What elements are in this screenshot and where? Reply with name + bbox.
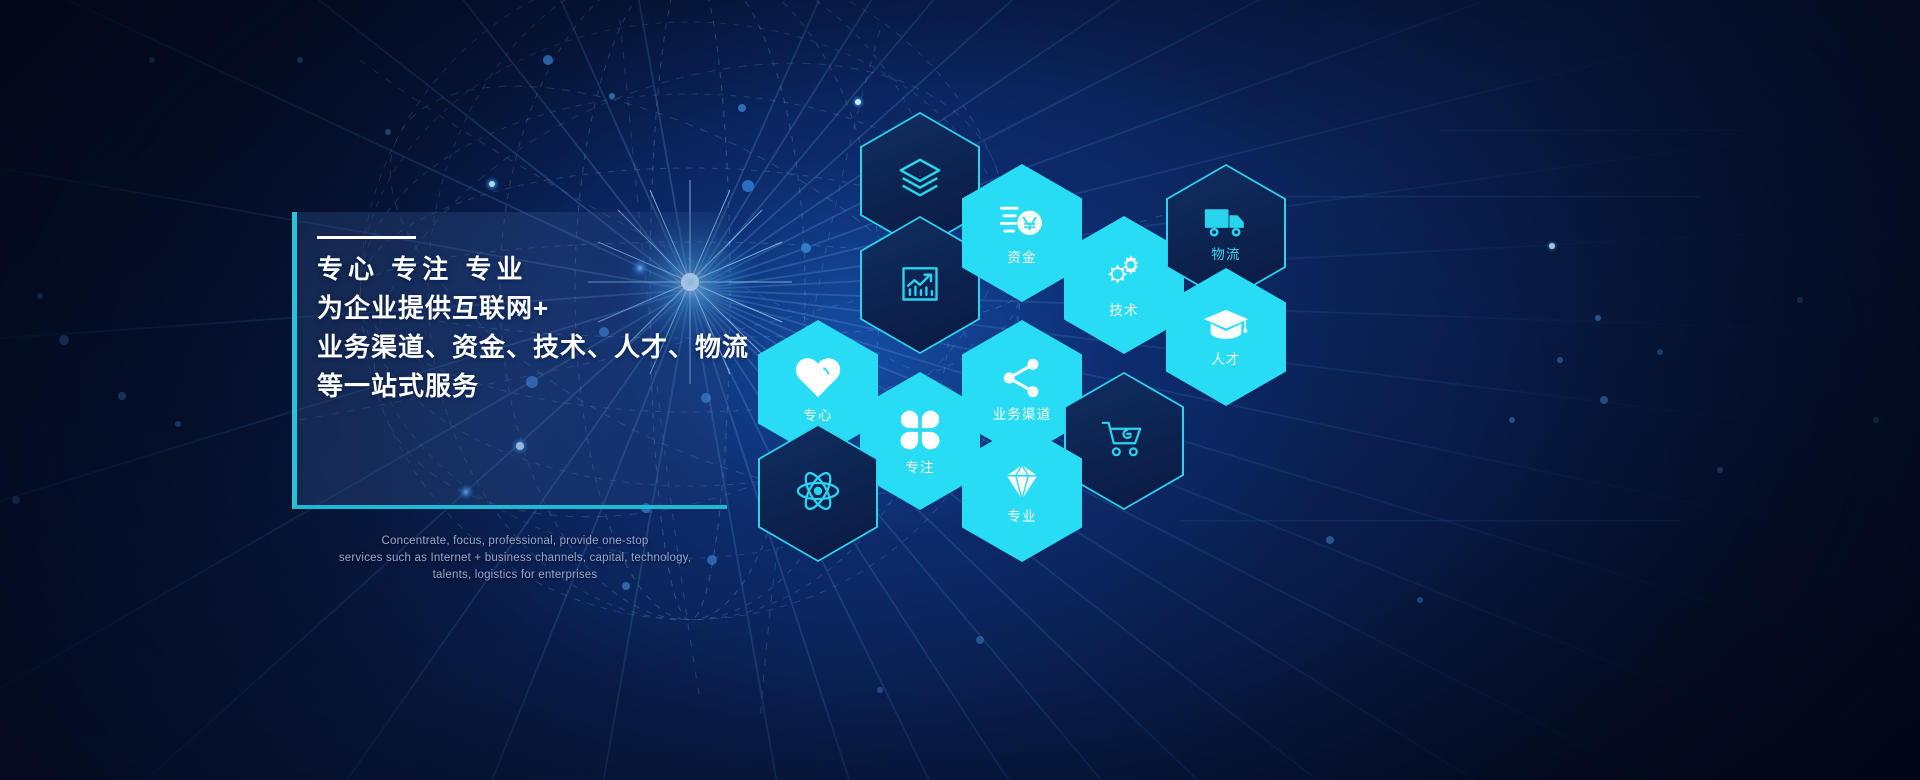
- chart-growth-icon: [898, 261, 942, 310]
- hex-content: 人才: [1203, 308, 1249, 367]
- hex-content: 物流: [1204, 205, 1248, 262]
- headline-line-1: 专心 专注 专业: [317, 250, 727, 289]
- hex-label: 业务渠道: [993, 408, 1052, 422]
- hex-content: 专心: [794, 356, 842, 423]
- hex-label: 专业: [1007, 510, 1036, 524]
- hex-content: 专注: [898, 408, 942, 475]
- hex-content: [1101, 419, 1147, 464]
- hex-tile-pro[interactable]: 专业: [962, 424, 1082, 562]
- hex-content: 技术: [1102, 253, 1146, 318]
- hexagon-cluster: 资金技术物流人才业务渠道专心专注专业: [740, 100, 1300, 520]
- hex-tile-atom[interactable]: [758, 424, 878, 562]
- hex-content: [795, 468, 841, 519]
- hero-banner: 专心 专注 专业 为企业提供互联网+ 业务渠道、资金、技术、人才、物流 等一站式…: [0, 0, 1920, 780]
- headline-line-2: 为企业提供互联网+: [317, 289, 727, 328]
- diamond-icon: [1005, 463, 1039, 506]
- hex-label: 资金: [1007, 251, 1036, 265]
- hex-content: 业务渠道: [993, 357, 1052, 422]
- share-nodes-icon: [1000, 357, 1044, 404]
- gears-icon: [1102, 253, 1146, 300]
- hex-label: 专注: [905, 461, 934, 475]
- hex-label: 物流: [1211, 248, 1240, 262]
- headline-line-3: 业务渠道、资金、技术、人才、物流: [317, 328, 727, 367]
- hex-tile-cart[interactable]: [1064, 372, 1184, 510]
- hex-content: 专业: [1005, 463, 1039, 524]
- truck-icon: [1204, 205, 1248, 244]
- decorative-rule: [317, 236, 416, 239]
- headline-lines: 专心 专注 专业 为企业提供互联网+ 业务渠道、资金、技术、人才、物流 等一站式…: [317, 250, 727, 406]
- layers-icon: [897, 156, 943, 207]
- hex-content: 资金: [1000, 202, 1044, 265]
- graduation-cap-icon: [1203, 308, 1249, 349]
- hex-label: 人才: [1211, 353, 1240, 367]
- subtitle-line-3: talents, logistics for enterprises: [330, 567, 700, 584]
- heart-icon: [794, 356, 842, 405]
- shopping-cart-icon: [1101, 419, 1147, 464]
- subtitle-line-2: services such as Internet + business cha…: [330, 550, 700, 567]
- hex-label: 技术: [1109, 304, 1138, 318]
- headline-line-4: 等一站式服务: [317, 367, 727, 406]
- subtitle-line-1: Concentrate, focus, professional, provid…: [330, 533, 700, 550]
- headline-panel: 专心 专注 专业 为企业提供互联网+ 业务渠道、资金、技术、人才、物流 等一站式…: [292, 212, 727, 509]
- atom-icon: [795, 468, 841, 519]
- yen-coin-icon: [1000, 202, 1044, 247]
- hex-content: [898, 261, 942, 310]
- flower-icon: [898, 408, 942, 457]
- hex-label: 专心: [803, 409, 832, 423]
- hex-content: [897, 156, 943, 207]
- subtitle-block: Concentrate, focus, professional, provid…: [330, 533, 700, 584]
- hex-tile-talent[interactable]: 人才: [1166, 268, 1286, 406]
